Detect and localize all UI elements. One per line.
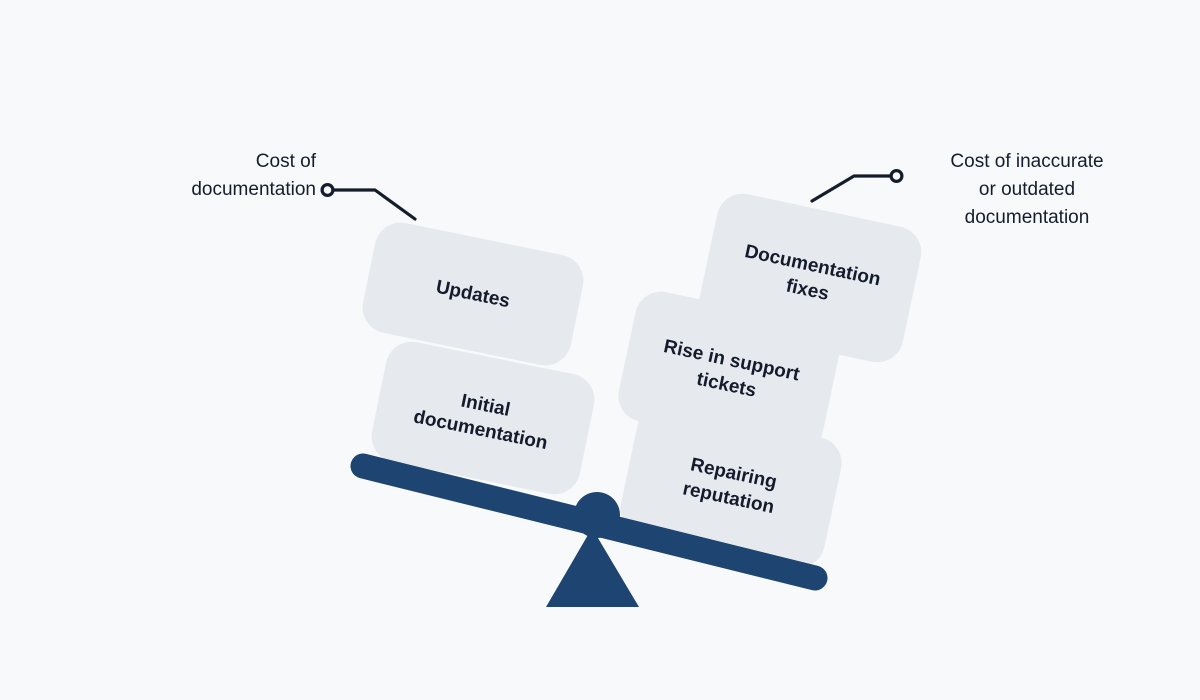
diagram-canvas: Cost of documentation Cost of inaccurate… xyxy=(0,0,1200,700)
balance-scale xyxy=(0,0,1200,700)
pivot-knob-icon xyxy=(574,492,620,538)
